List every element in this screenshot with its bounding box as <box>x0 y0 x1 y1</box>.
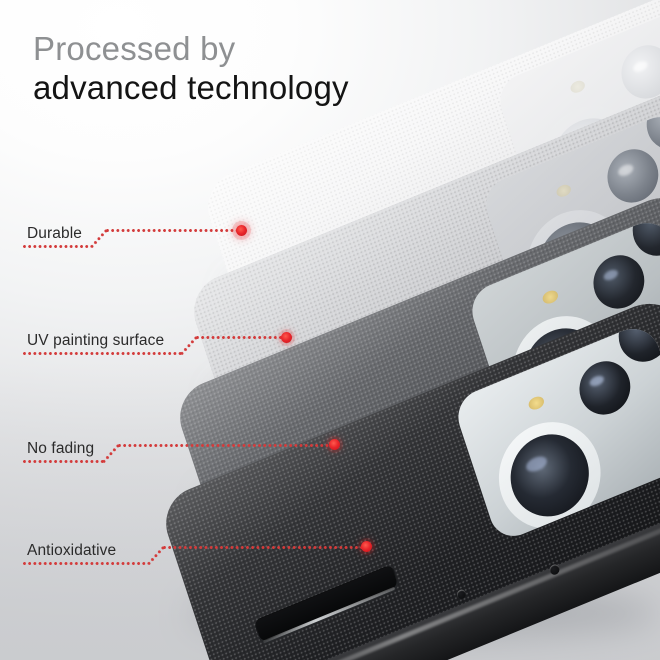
page-title: Processed by advanced technology <box>33 30 349 108</box>
annotation-leader <box>118 444 333 447</box>
annotation-marker <box>236 225 247 236</box>
annotation-label: Durable <box>27 225 82 243</box>
camera-flash <box>555 183 572 199</box>
annotation-underline <box>23 460 103 463</box>
annotation-marker <box>361 541 372 552</box>
camera-flash <box>527 394 546 411</box>
headline-line-2: advanced technology <box>33 68 349 108</box>
camera-lens-second <box>573 353 637 422</box>
annotation-label: UV painting surface <box>27 332 164 350</box>
annotation-marker <box>281 332 292 343</box>
annotation-leader <box>106 229 237 232</box>
headline-line-1: Processed by <box>33 30 349 68</box>
product-feature-image: Processed by advanced technology Durable… <box>0 0 660 660</box>
annotation-underline <box>23 245 91 248</box>
annotation-label: No fading <box>27 440 94 458</box>
camera-flash <box>569 79 586 95</box>
annotation-underline <box>23 562 148 565</box>
annotation-label: Antioxidative <box>27 542 116 560</box>
camera-flash <box>541 288 560 305</box>
annotation-leader <box>196 336 282 339</box>
annotation-underline <box>23 352 181 355</box>
annotation-marker <box>329 439 340 450</box>
annotation-leader <box>163 546 365 549</box>
